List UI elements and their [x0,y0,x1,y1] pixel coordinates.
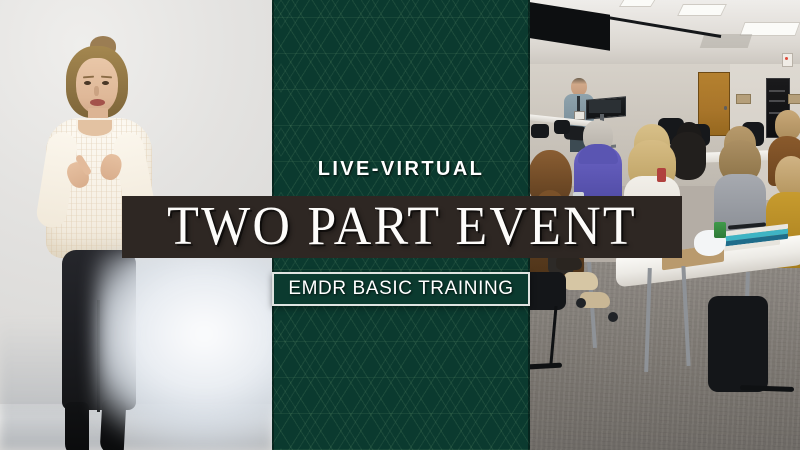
presenter-nose [94,86,99,96]
ceiling-light-1 [677,4,727,16]
chair-caster-2 [608,312,618,322]
ceiling-light-3 [619,0,657,7]
student-gray-sweater [714,126,766,222]
presenter-eye-right [102,81,109,85]
beverage-can [714,222,726,238]
subtitle-box: EMDR BASIC TRAINING [272,272,530,306]
sensor-led-icon [785,57,788,60]
presenter-mouth [90,99,105,106]
red-tumbler [657,168,666,182]
subtitle-text: EMDR BASIC TRAINING [288,278,513,300]
title-band: TWO PART EVENT [122,196,682,258]
shoe-dark [556,256,582,270]
foreground-chair-right [708,296,768,392]
rack-line-1 [769,90,785,92]
shoe-tan-1 [564,272,598,290]
eyebrow-text: LIVE-VIRTUAL [318,158,485,180]
presenter-boot-left [65,402,89,450]
rack-line-2 [769,100,785,102]
chair-back-1 [554,120,570,134]
eyebrow-label: LIVE-VIRTUAL [272,158,530,181]
event-promo-poster: LIVE-VIRTUAL TWO PART EVENT EMDR BASIC T… [0,0,800,450]
student-head [775,156,800,196]
chair-caster-1 [576,298,586,308]
podium-laptop-screen [589,100,621,113]
wall-sensor [782,53,793,67]
wall-plate-1 [736,94,751,104]
ceiling-vent [700,34,753,48]
door-handle-icon [724,106,727,110]
chair-back-2 [531,124,549,138]
instructor-lanyard [577,96,580,112]
wall-plate-2 [788,94,800,104]
student-hood [578,144,618,164]
presenter-eye-left [84,81,91,85]
foreground-blur-object [96,250,272,450]
presenter-collar [78,120,112,136]
page-title: TWO PART EVENT [167,199,637,254]
foreground-chair-left [530,272,566,310]
